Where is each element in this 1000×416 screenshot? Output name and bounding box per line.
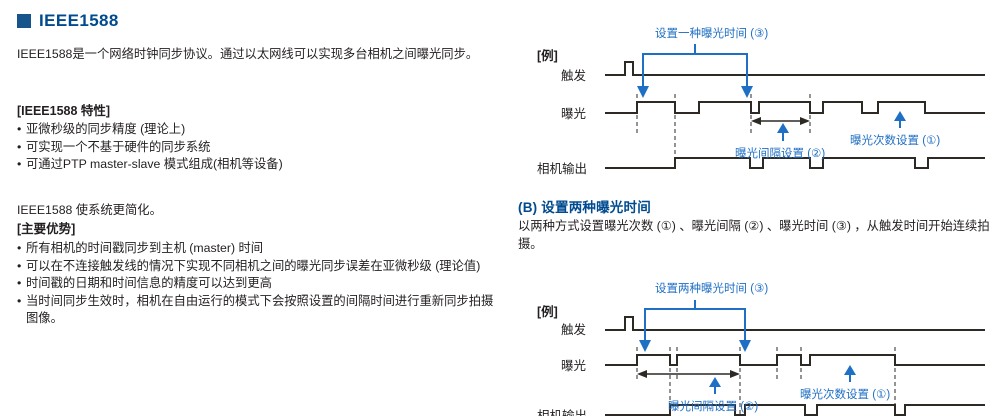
- arrow-head-c: [639, 340, 651, 352]
- left-text-column: IEEE1588 IEEE1588是一个网络时钟同步协议。通过以太网线可以实现多…: [0, 0, 505, 416]
- example-label-bottom: [例]: [537, 304, 558, 319]
- features-title: [IEEE1588 特性]: [17, 103, 110, 121]
- list-item: 可通过PTP master-slave 模式组成(相机等设备): [17, 156, 489, 174]
- waveform-exposure-top: [605, 102, 985, 113]
- page-title: IEEE1588: [17, 11, 119, 31]
- interval-arrow-left-top: [751, 117, 761, 125]
- annotation-exposure-interval-top: 曝光间隔设置 (②): [735, 146, 825, 160]
- features-list: 亚微秒级的同步精度 (理论上) 可实现一个不基于硬件的同步系统 可通过PTP m…: [17, 121, 489, 174]
- annotation-exposure-count-top: 曝光次数设置 (①): [850, 133, 940, 147]
- intro-paragraph: IEEE1588是一个网络时钟同步协议。通过以太网线可以实现多台相机之间曝光同步…: [17, 46, 489, 64]
- bullet-square-icon: [17, 14, 31, 28]
- interval-callout-head-bottom: [709, 377, 721, 387]
- page-root: IEEE1588 IEEE1588是一个网络时钟同步协议。通过以太网线可以实现多…: [0, 0, 1000, 416]
- advantages-title: [主要优势]: [17, 221, 75, 239]
- row-label-camera-output-bottom: 相机输出: [537, 408, 587, 416]
- waveform-trigger-bottom: [605, 317, 985, 330]
- interval-arrow-left-bottom: [637, 370, 647, 378]
- list-item: 时间戳的日期和时间信息的精度可以达到更高: [17, 275, 499, 293]
- list-item: 所有相机的时间戳同步到主机 (master) 时间: [17, 240, 499, 258]
- count-callout-head-top: [894, 111, 906, 121]
- row-label-trigger-bottom: 触发: [561, 322, 587, 337]
- page-title-label: IEEE1588: [39, 11, 119, 31]
- interval-arrow-right-top: [800, 117, 810, 125]
- annotation-exposure-interval-bottom: 曝光间隔设置 (②): [668, 399, 758, 413]
- top-timing-diagram: [例] 触发 曝光 相机输出: [505, 10, 1000, 175]
- section-b-body: 以两种方式设置曝光次数 (①) 、曝光间隔 (②) 、曝光时间 (③) ，从触发…: [518, 218, 996, 253]
- annotation-exposure-time-bottom: 设置两种曝光时间 (③): [655, 281, 768, 295]
- row-label-camera-output-top: 相机输出: [537, 161, 587, 176]
- arrow-head-d: [739, 340, 751, 352]
- row-label-exposure-bottom: 曝光: [561, 359, 586, 373]
- list-item: 可以在不连接触发线的情况下实现不同相机之间的曝光同步误差在亚微秒级 (理论值): [17, 258, 499, 276]
- list-item: 亚微秒级的同步精度 (理论上): [17, 121, 489, 139]
- arrow-head-a: [637, 86, 649, 98]
- count-callout-head-bottom: [844, 365, 856, 375]
- list-item: 可实现一个不基于硬件的同步系统: [17, 139, 489, 157]
- row-label-trigger-top: 触发: [561, 68, 587, 83]
- simplify-line: IEEE1588 使系统更简化。: [17, 202, 162, 220]
- section-b: (B) 设置两种曝光时间 以两种方式设置曝光次数 (①) 、曝光间隔 (②) 、…: [518, 196, 996, 253]
- advantages-list: 所有相机的时间戳同步到主机 (master) 时间 可以在不连接触发线的情况下实…: [17, 240, 499, 328]
- exposure-time-bracket-top: [643, 54, 747, 62]
- row-label-exposure-top: 曝光: [561, 107, 586, 121]
- waveform-exposure-bottom: [605, 355, 985, 365]
- interval-arrow-right-bottom: [730, 370, 740, 378]
- bottom-timing-diagram: [例] 触发 曝光 相机输出: [505, 270, 1000, 416]
- list-item: 当时间同步生效时，相机在自由运行的模式下会按照设置的间隔时间进行重新同步拍摄图像…: [17, 293, 499, 328]
- section-b-title: (B) 设置两种曝光时间: [518, 196, 996, 216]
- exposure-time-bracket-bottom: [645, 309, 745, 317]
- annotation-exposure-time-top: 设置一种曝光时间 (③): [655, 26, 768, 40]
- annotation-exposure-count-bottom: 曝光次数设置 (①): [800, 387, 890, 401]
- waveform-trigger-top: [605, 62, 985, 75]
- example-label-top: [例]: [537, 48, 558, 63]
- waveform-camera-output-bottom: [605, 405, 985, 415]
- right-diagram-column: [例] 触发 曝光 相机输出: [505, 0, 1000, 416]
- interval-callout-head-top: [777, 123, 789, 133]
